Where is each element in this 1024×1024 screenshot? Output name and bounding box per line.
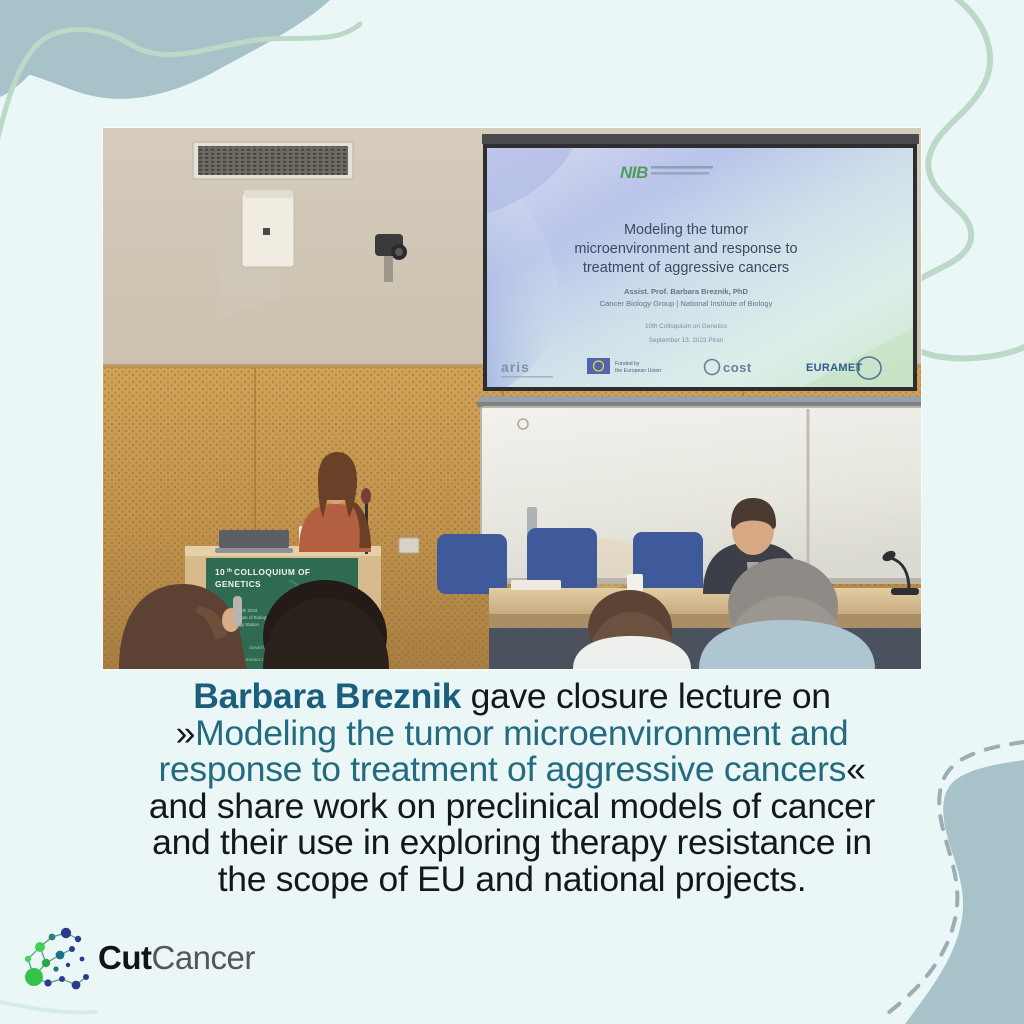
svg-text:COLLOQUIUM OF: COLLOQUIUM OF	[234, 567, 310, 577]
molecular-network-icon	[22, 919, 96, 997]
svg-text:Cancer Biology Group | Nationa: Cancer Biology Group | National Institut…	[600, 299, 773, 308]
svg-text:Modeling the tumor: Modeling the tumor	[624, 222, 748, 238]
laptop	[219, 530, 289, 548]
svg-text:NIB: NIB	[620, 163, 648, 182]
person-name: Barbara Breznik	[193, 676, 461, 716]
projection-screen: NIB Modeling the tumor microenvironment …	[482, 134, 919, 391]
svg-text:Funded by: Funded by	[615, 361, 640, 367]
svg-text:Assist. Prof. Barbara Breznik,: Assist. Prof. Barbara Breznik, PhD	[624, 287, 749, 296]
logo-word-cut: Cut	[98, 939, 151, 976]
svg-text:microenvironment and response: microenvironment and response to	[574, 241, 797, 257]
logo-wordmark: CutCancer	[98, 941, 255, 975]
caption-text: Barbara Breznik gave closure lecture on …	[0, 678, 1024, 897]
cutcancer-logo: CutCancer	[22, 912, 272, 1004]
svg-text:th: th	[227, 568, 232, 574]
svg-text:September 13, 2023 Piran: September 13, 2023 Piran	[649, 337, 724, 344]
caption-line-5: and their use in exploring therapy resis…	[0, 824, 1024, 861]
close-guillemet: «	[846, 749, 865, 789]
caption-line-4: and share work on preclinical models of …	[0, 788, 1024, 825]
phone-in-hand	[233, 596, 242, 626]
svg-text:cost: cost	[723, 360, 752, 375]
decorative-blob-top-left-2	[0, 0, 60, 97]
open-guillemet: »	[176, 713, 195, 753]
lecture-title-part-2: response to treatment of aggressive canc…	[158, 749, 846, 789]
caption-line-6: the scope of EU and national projects.	[0, 861, 1024, 898]
svg-text:EURAMET: EURAMET	[806, 362, 863, 374]
svg-text:aris: aris	[501, 359, 530, 375]
decorative-blob-top-left	[0, 0, 330, 99]
svg-text:10th Colloquium on Genetics: 10th Colloquium on Genetics	[645, 323, 727, 330]
caption-line-3: response to treatment of aggressive canc…	[0, 751, 1024, 788]
air-vent-grille	[193, 142, 353, 179]
svg-text:treatment of aggressive cancer: treatment of aggressive cancers	[583, 260, 789, 276]
svg-text:10: 10	[215, 567, 225, 577]
lecture-photo-image: NIB Modeling the tumor microenvironment …	[103, 128, 921, 669]
caption-line-2: »Modeling the tumor microenvironment and	[0, 715, 1024, 752]
presentation-slide: NIB Modeling the tumor microenvironment …	[487, 148, 913, 387]
svg-text:GENETICS: GENETICS	[215, 579, 261, 589]
lecture-title-part-1: Modeling the tumor microenvironment and	[195, 713, 848, 753]
logo-word-cancer: Cancer	[151, 939, 254, 976]
lecture-photo: NIB Modeling the tumor microenvironment …	[103, 128, 921, 669]
paper-on-table	[511, 580, 561, 590]
svg-text:the European Union: the European Union	[615, 368, 661, 374]
caption-line-1: Barbara Breznik gave closure lecture on	[0, 678, 1024, 715]
wall-outlet	[399, 538, 419, 553]
